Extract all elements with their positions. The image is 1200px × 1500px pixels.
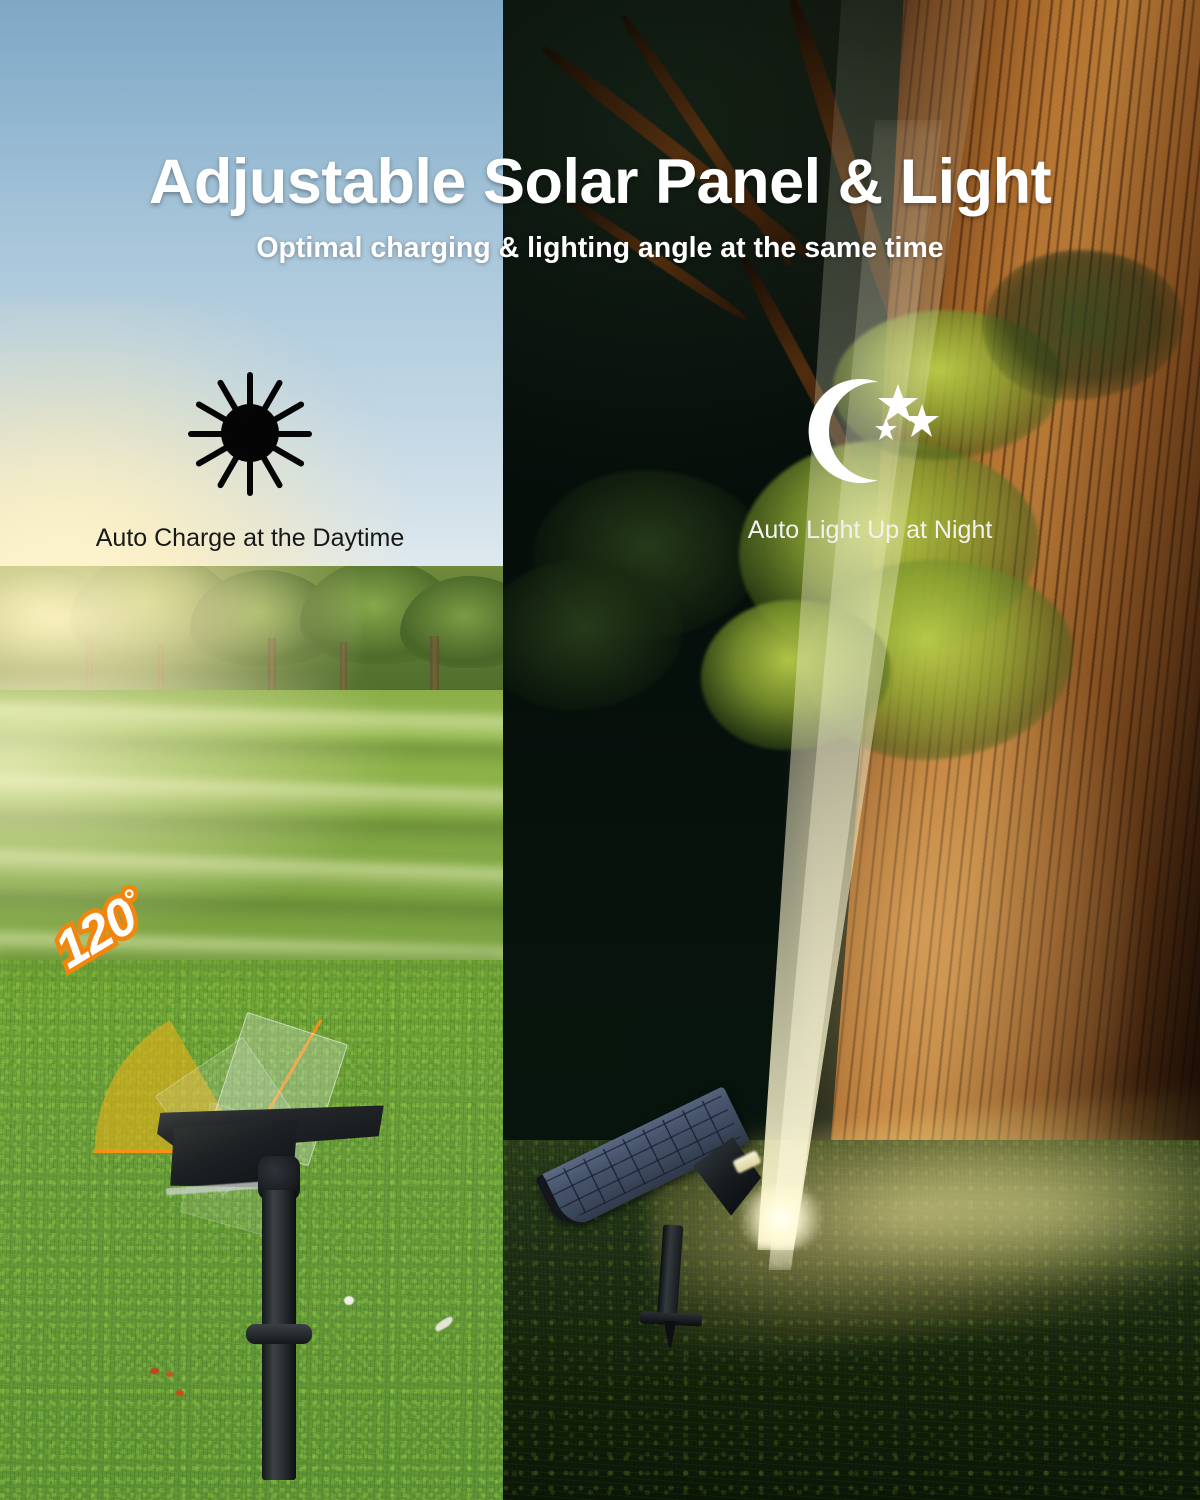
sun-icon (186, 370, 314, 498)
moon-crescent-svg (800, 370, 940, 488)
page-subtitle: Optimal charging & lighting angle at the… (0, 232, 1200, 265)
foliage-cluster (503, 560, 683, 710)
feature-auto-charge: Auto Charge at the Daytime (40, 370, 460, 551)
light-pool-secondary (833, 1135, 1200, 1285)
lamp-ground-spike (664, 1321, 676, 1347)
feature-label-night: Auto Light Up at Night (690, 518, 1050, 543)
lamp-support-arm (657, 1224, 684, 1321)
lawn-sun-wash (0, 680, 400, 940)
moon-stars-icon (800, 370, 940, 488)
page-title: Adjustable Solar Panel & Light (0, 150, 1200, 214)
feature-label-day: Auto Charge at the Daytime (40, 526, 460, 551)
feature-auto-light: Auto Light Up at Night (690, 370, 1050, 543)
solar-spotlight-day (152, 1102, 412, 1402)
day-scene-panel (0, 0, 503, 1500)
product-feature-graphic: Adjustable Solar Panel & Light Optimal c… (0, 0, 1200, 1500)
lamp-stake-collar (246, 1324, 312, 1344)
night-scene-panel (503, 0, 1200, 1500)
solar-spotlight-night (548, 1165, 808, 1365)
